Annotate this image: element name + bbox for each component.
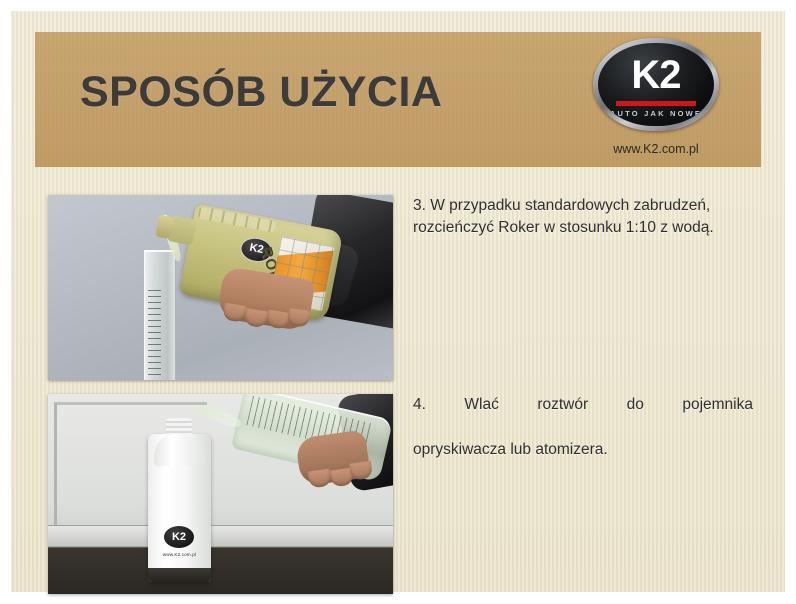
logo-wordmark: K2: [598, 55, 714, 95]
sprayer-website-text: www.K2.com.pl: [157, 552, 202, 557]
k2-logo: K2 AUTO JAK NOWE www.K2.com.pl: [581, 38, 731, 163]
logo-red-bar: [616, 101, 696, 106]
step-three-paragraph: 3. W przypadku standardowych zabrudzeń, …: [413, 197, 714, 236]
step-four-text: 4. Wlać roztwór do pojemnika opryskiwacz…: [413, 394, 753, 461]
measuring-cylinder: [144, 250, 176, 380]
step-four-line-two: opryskiwacza lub atomizera.: [413, 439, 753, 461]
logo-website: www.K2.com.pl: [581, 142, 731, 156]
sprayer-k2-badge: K2: [164, 526, 194, 548]
photo-step-three: K2 ROKER: [48, 195, 393, 380]
slide-background: SPOSÓB UŻYCIA K2 AUTO JAK NOWE www.K2.co…: [11, 11, 785, 592]
step-four-line-one: 4. Wlać roztwór do pojemnika: [413, 394, 753, 439]
logo-tagline: AUTO JAK NOWE: [598, 109, 714, 118]
sprayer-bottle: K2 www.K2.com.pl: [148, 434, 211, 582]
page-title: SPOSÓB UŻYCIA: [80, 68, 443, 117]
sprayer-shoulder: [154, 434, 205, 466]
cylinder-scale-marks: [148, 290, 161, 378]
sprayer-base: [148, 568, 211, 582]
logo-face: K2 AUTO JAK NOWE: [598, 43, 714, 126]
slide: SPOSÓB UŻYCIA K2 AUTO JAK NOWE www.K2.co…: [0, 0, 796, 604]
title-banner: SPOSÓB UŻYCIA K2 AUTO JAK NOWE www.K2.co…: [35, 32, 761, 167]
logo-shield-icon: K2 AUTO JAK NOWE: [593, 38, 719, 131]
step-three-text: 3. W przypadku standardowych zabrudzeń, …: [413, 195, 763, 240]
photo-step-three-scene: K2 ROKER: [48, 195, 393, 380]
photo-step-four-scene: K2 www.K2.com.pl: [48, 394, 393, 594]
hand-holding-cylinder: [295, 429, 371, 486]
baseboard: [48, 525, 393, 546]
photo-step-four: K2 www.K2.com.pl: [48, 394, 393, 594]
